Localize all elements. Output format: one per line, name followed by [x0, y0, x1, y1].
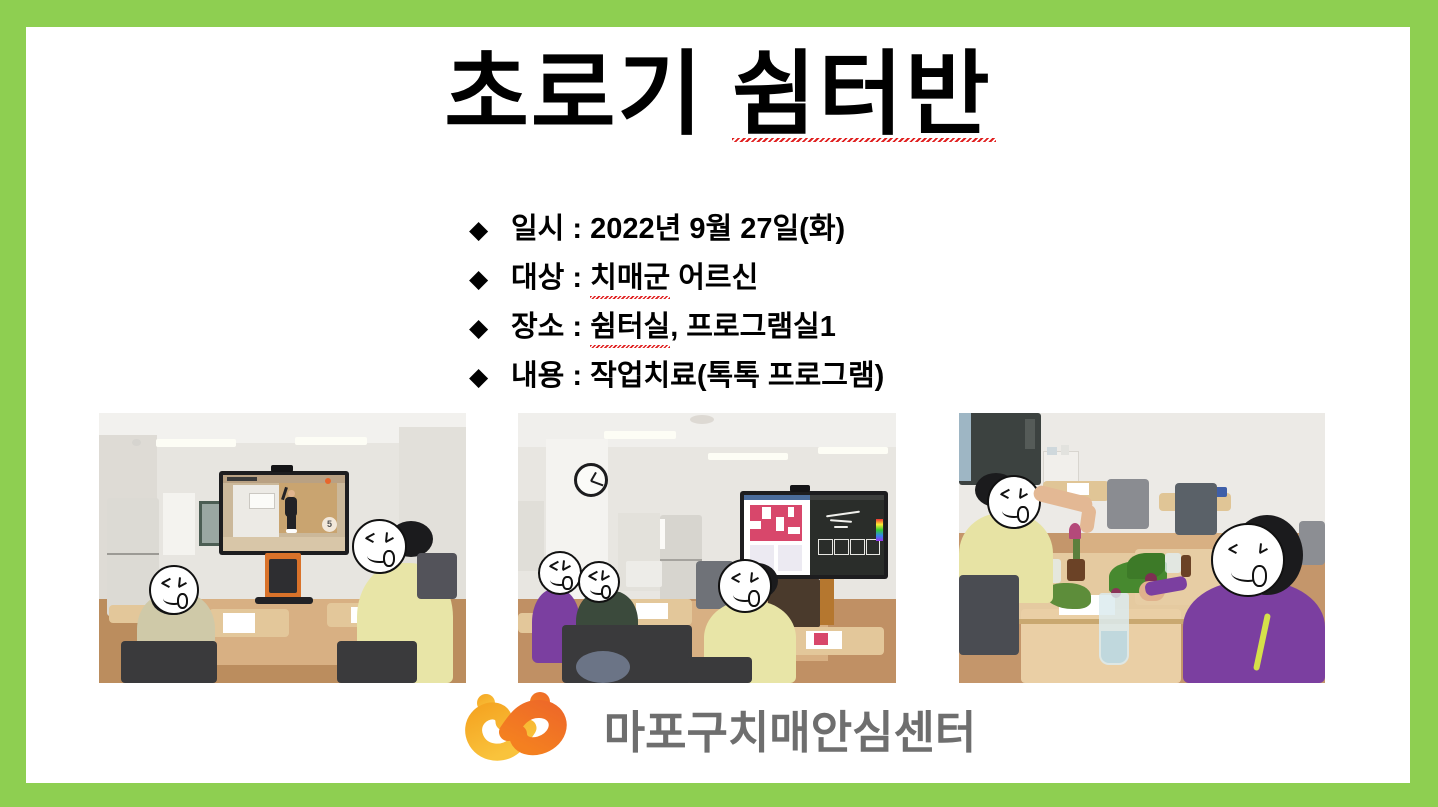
page-title-misspelled: 쉼터반 [732, 45, 992, 146]
bullet-place-pre: 장소 : [511, 311, 590, 343]
chair [1299, 521, 1325, 565]
shelf-item [1047, 447, 1057, 455]
bullet-target-misspelled: 치매군 [590, 254, 670, 296]
tv-screen [744, 495, 884, 575]
puzzle-gap [750, 521, 761, 529]
cart-base [255, 597, 313, 604]
video-instructor-head [288, 490, 295, 497]
diamond-bullet-icon: ◆ [469, 267, 511, 292]
emoji-tongue [748, 590, 760, 607]
diamond-bullet-icon: ◆ [469, 365, 511, 390]
shelf-item [1061, 445, 1069, 455]
tv-screen-sliver [959, 413, 971, 481]
whiteboard [163, 493, 195, 555]
chair [686, 657, 752, 683]
answer-box [818, 539, 833, 555]
photo-tv-exercise: 5 [99, 413, 466, 683]
video-instructor-torso [285, 497, 297, 517]
emoji-face-mask [1211, 523, 1285, 597]
emoji-face-mask [718, 559, 772, 613]
bullet-item-target-text: 대상 : 치매군 어르신 [511, 254, 758, 296]
emoji-eye-right [178, 582, 187, 588]
page-title-plain: 초로기 [444, 44, 731, 146]
answer-box [850, 539, 865, 555]
bullet-item-date: ◆ 일시 : 2022년 9월 27일(화) [469, 205, 884, 254]
page-title-wrap: 초로기 쉼터반 [26, 45, 1410, 146]
bullet-item-date-text: 일시 : 2022년 9월 27일(화) [511, 205, 845, 247]
tv-camera-icon [790, 485, 810, 492]
puzzle-gap [788, 507, 794, 517]
screen-left-text [778, 545, 802, 571]
small-bottle [1181, 555, 1191, 577]
emoji-eye-left [1228, 548, 1237, 554]
video-instructor-shoes [286, 529, 297, 533]
bullet-item-content-text: 내용 : 작업치료(톡톡 프로그램) [511, 352, 884, 394]
cabinet [518, 501, 544, 571]
whiteboard-toolbar [810, 495, 884, 500]
video-logo-icon [325, 478, 331, 484]
emoji-tongue [562, 576, 572, 590]
emoji-eye-left [161, 582, 170, 588]
glass-cup [1165, 553, 1181, 573]
bullet-place-misspelled: 쉼터실 [590, 303, 670, 345]
chair [417, 553, 457, 599]
photo-flower-activity [959, 413, 1325, 683]
worksheet [636, 603, 668, 619]
photo-row: 5 [99, 413, 1399, 683]
emoji-face-mask [578, 561, 620, 603]
diamond-bullet-icon: ◆ [469, 316, 511, 341]
worksheet [223, 613, 255, 633]
bullet-content-pre: 내용 : 작업치료(톡톡 프로그램) [511, 360, 884, 392]
fridge-seam [660, 559, 702, 561]
emoji-eye-right [750, 577, 759, 583]
ceiling-light [604, 431, 676, 439]
center-logo-text: 마포구치매안심센터 [604, 696, 977, 761]
answer-box [866, 539, 880, 555]
cart-panel [269, 559, 297, 593]
video-instructor-legs [287, 516, 296, 530]
ceiling-light [708, 453, 788, 460]
tv-screen: 5 [223, 475, 345, 551]
video-whiteboard [249, 493, 275, 509]
answer-box [834, 539, 849, 555]
emoji-eye-right [1259, 548, 1268, 554]
emoji-face-mask [538, 551, 582, 595]
chair [959, 575, 1019, 655]
ceiling-light [295, 437, 367, 445]
photo-1-scene: 5 [99, 413, 466, 683]
screen-left-titlebar [744, 495, 810, 500]
center-logo-mark-icon [460, 692, 582, 764]
emoji-face-mask [987, 475, 1041, 529]
puzzle-gap [776, 517, 784, 531]
emoji-eye-left [731, 577, 740, 583]
emoji-tongue [601, 585, 611, 599]
slide-frame: 초로기 쉼터반 ◆ 일시 : 2022년 9월 27일(화) ◆ 대상 : 치매… [0, 0, 1438, 807]
page-title: 초로기 쉼터반 [444, 45, 991, 146]
handwriting-stroke [834, 526, 848, 528]
logo-infinity-figures-icon [460, 692, 582, 764]
cabinet-side [820, 579, 834, 625]
bullet-place-post: , 프로그램실1 [670, 311, 836, 343]
flower-pot [1067, 559, 1085, 581]
color-palette [876, 519, 883, 541]
emoji-eye-left [365, 537, 374, 543]
emoji-face-mask [149, 565, 199, 615]
emoji-eye-right [385, 537, 394, 543]
bullet-date-pre: 일시 : 2022년 9월 27일(화) [511, 213, 845, 245]
storage-shelf [1043, 451, 1079, 485]
emoji-tongue [177, 593, 188, 609]
whiteboard-app [810, 495, 884, 575]
side-table [626, 561, 662, 587]
tv-toolbar [1025, 419, 1035, 449]
bullet-item-place-text: 장소 : 쉼터실, 프로그램실1 [511, 303, 836, 345]
emoji-eye-right [601, 575, 610, 581]
slide-content-area: 초로기 쉼터반 ◆ 일시 : 2022년 9월 27일(화) ◆ 대상 : 치매… [26, 27, 1410, 783]
bullet-target-post: 어르신 [670, 262, 758, 294]
emoji-eye-left [549, 565, 558, 571]
wheelchair [121, 641, 217, 683]
photo-2-scene [518, 413, 896, 683]
video-title-bar [227, 477, 257, 481]
photo-classroom-screen [518, 413, 896, 683]
tv-camera-icon [271, 465, 293, 472]
chair [337, 641, 417, 683]
video-floor [223, 537, 345, 551]
info-bullet-list: ◆ 일시 : 2022년 9월 27일(화) ◆ 대상 : 치매군 어르신 ◆ … [469, 205, 884, 401]
fridge-seam [107, 553, 159, 555]
video-rep-counter: 5 [322, 517, 337, 532]
bullet-item-target: ◆ 대상 : 치매군 어르신 [469, 254, 884, 303]
diamond-bullet-icon: ◆ [469, 218, 511, 243]
wheelchair-wheel [576, 651, 630, 683]
emoji-eye-left [588, 575, 597, 581]
emoji-tongue [1017, 506, 1029, 523]
photo-3-scene [959, 413, 1325, 683]
bullet-target-pre: 대상 : [511, 262, 590, 294]
chair [1107, 479, 1149, 529]
vase-water [1101, 631, 1127, 663]
bullet-item-place: ◆ 장소 : 쉼터실, 프로그램실1 [469, 303, 884, 352]
emoji-eye-right [562, 565, 571, 571]
security-camera-icon [132, 439, 141, 446]
puzzle-gap [762, 507, 771, 519]
emoji-eye-left [1000, 493, 1009, 499]
ceiling-vent [690, 415, 714, 424]
emoji-face-mask [352, 519, 407, 574]
clock-minute-hand [591, 480, 604, 486]
ceiling-light [156, 439, 236, 447]
chair [1175, 483, 1217, 535]
emoji-tongue [383, 550, 395, 567]
organization-logo: 마포구치매안심센터 [26, 692, 1410, 764]
worksheet-graphic [814, 633, 828, 645]
bullet-item-content: ◆ 내용 : 작업치료(톡톡 프로그램) [469, 352, 884, 401]
emoji-eye-right [1019, 493, 1028, 499]
emoji-tongue [1252, 565, 1267, 587]
wall-clock-icon [574, 463, 608, 497]
puzzle-gap [788, 527, 800, 534]
ceiling-light [818, 447, 888, 454]
